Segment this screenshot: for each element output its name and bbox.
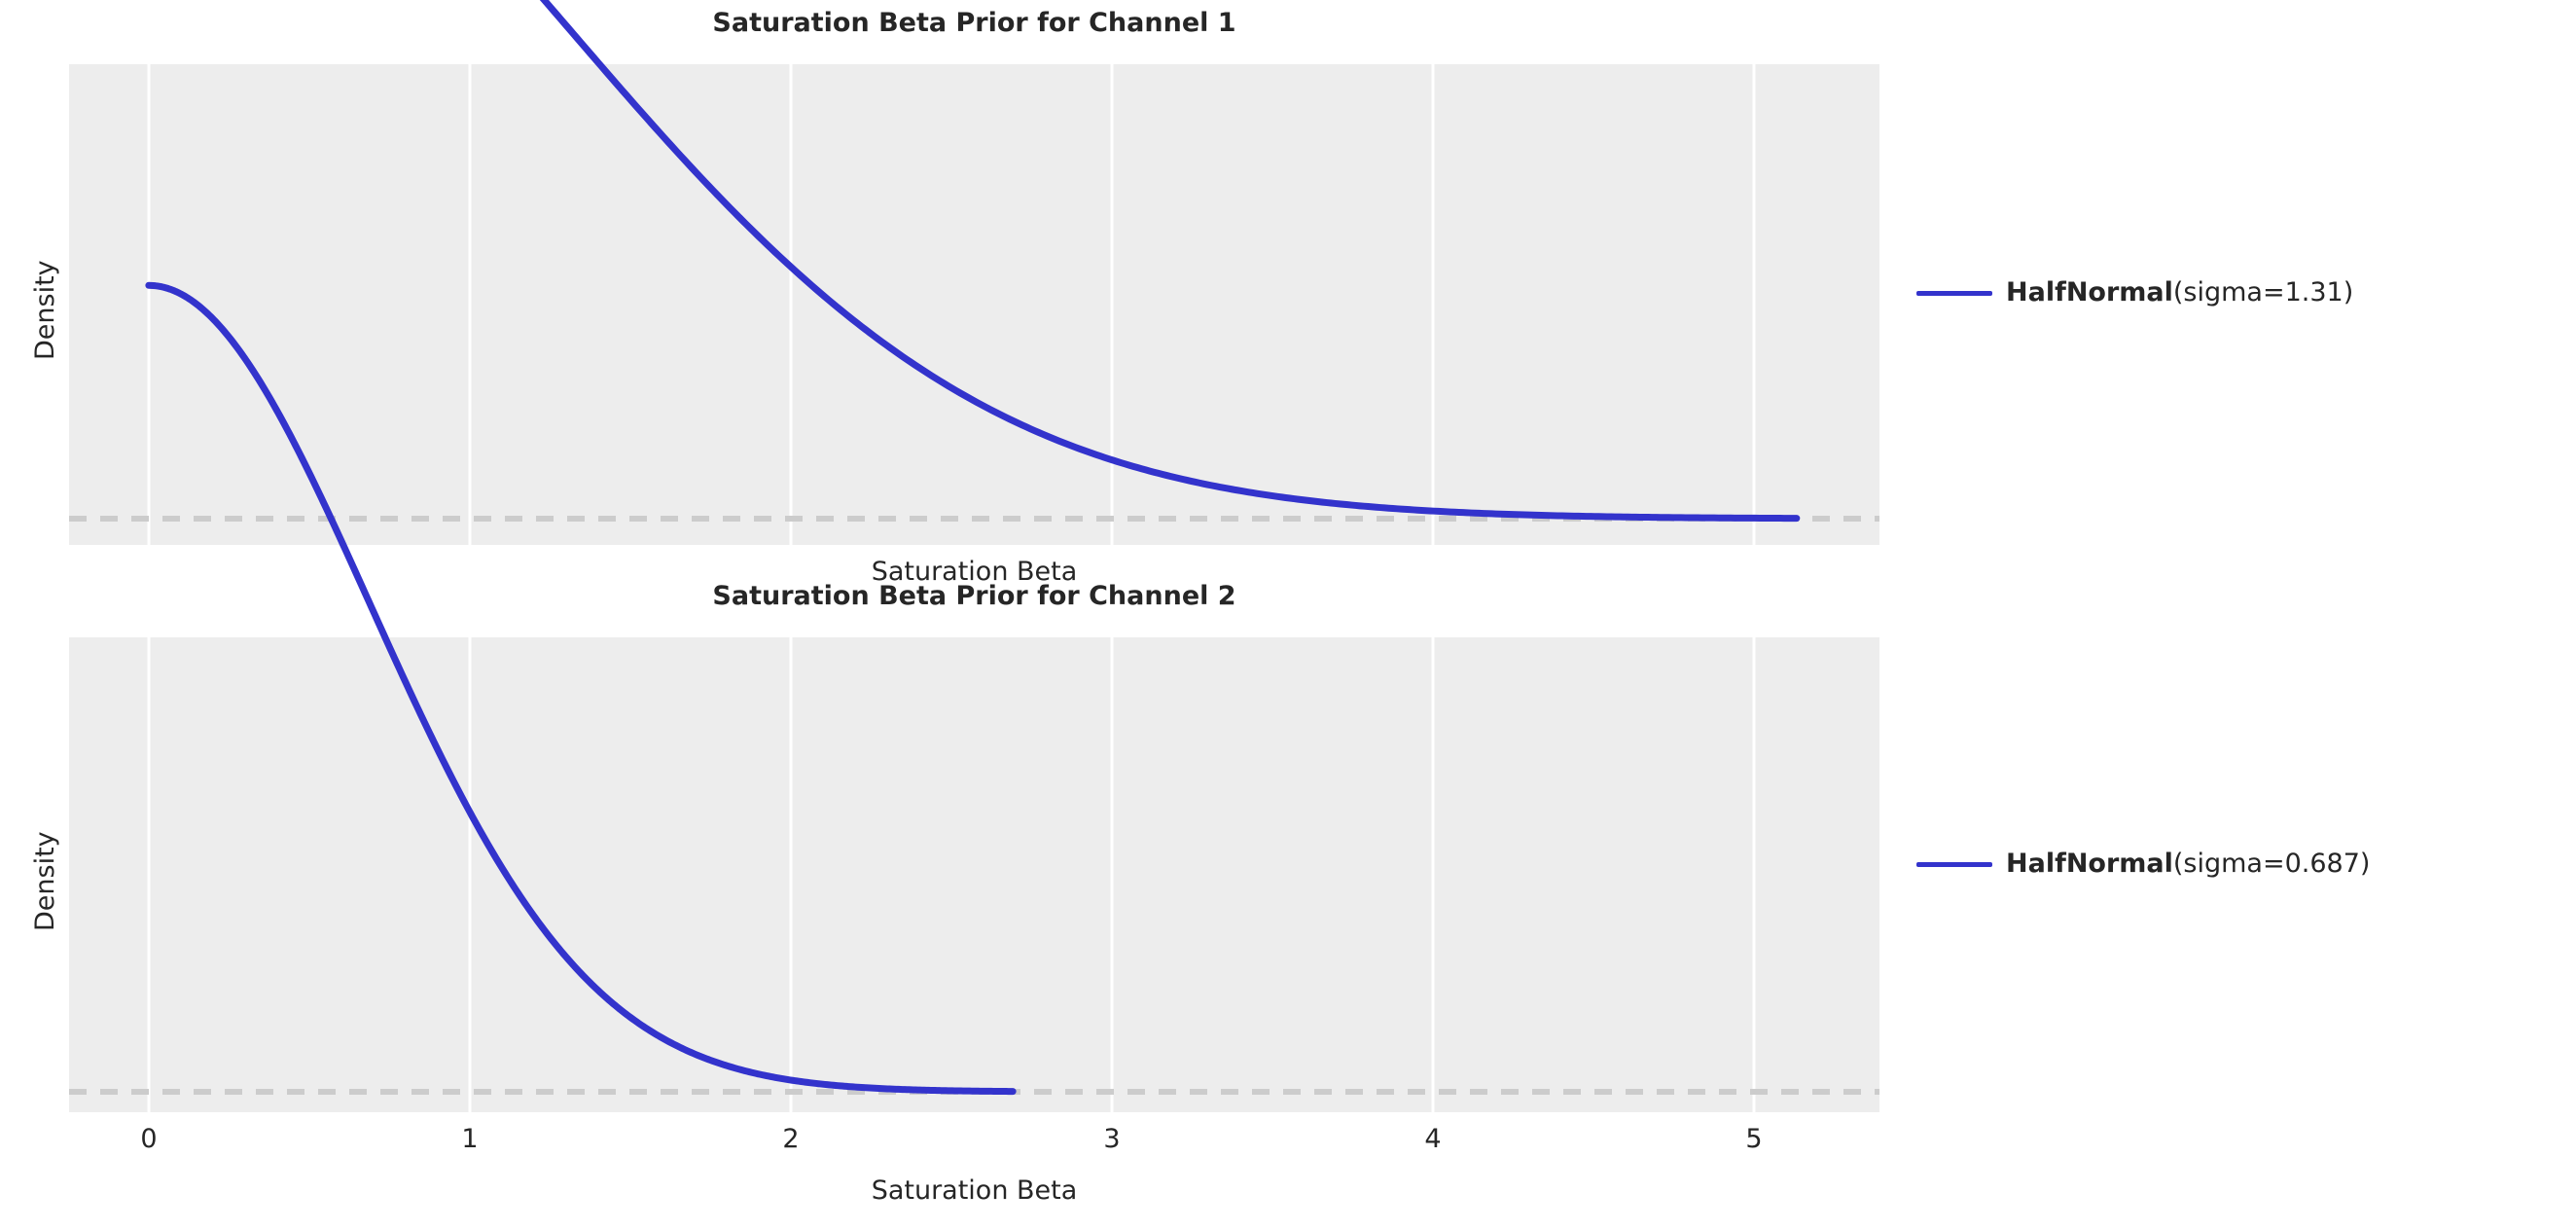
panel-2-axes bbox=[69, 637, 1879, 1112]
panel-1-legend-dist-name: HalfNormal bbox=[2006, 277, 2173, 307]
panel-1-legend-line-icon bbox=[1916, 291, 1992, 296]
panel-2-legend: HalfNormal(sigma=0.687) bbox=[1916, 849, 2370, 880]
panel-1-plot-svg bbox=[69, 64, 1879, 545]
panel-2-xlabel: Saturation Beta bbox=[69, 1175, 1879, 1207]
panel-2-title: Saturation Beta Prior for Channel 2 bbox=[69, 581, 1879, 612]
panel-1-axes bbox=[69, 64, 1879, 545]
panel-2-ylabel: Density bbox=[31, 831, 60, 931]
panel-1-title: Saturation Beta Prior for Channel 1 bbox=[69, 8, 1879, 39]
panel-2-plot-svg bbox=[69, 637, 1879, 1112]
panel-1-curve bbox=[149, 0, 1797, 519]
panel-1-legend-label: HalfNormal(sigma=1.31) bbox=[2006, 277, 2353, 308]
xtick-label-1: 1 bbox=[431, 1124, 509, 1155]
xtick-label-3: 3 bbox=[1073, 1124, 1151, 1155]
panel-1-legend-dist-param: (sigma=1.31) bbox=[2173, 277, 2353, 307]
panel-2-legend-line-icon bbox=[1916, 862, 1992, 867]
xtick-label-5: 5 bbox=[1715, 1124, 1793, 1155]
panel-2-legend-label: HalfNormal(sigma=0.687) bbox=[2006, 849, 2370, 880]
xtick-label-4: 4 bbox=[1394, 1124, 1472, 1155]
xtick-label-0: 0 bbox=[110, 1124, 188, 1155]
panel-2-legend-dist-param: (sigma=0.687) bbox=[2173, 849, 2371, 879]
panel-2-gridlines bbox=[149, 637, 1754, 1112]
panel-2-legend-dist-name: HalfNormal bbox=[2006, 849, 2173, 879]
figure-root: Saturation Beta Prior for Channel 1 Dens… bbox=[0, 0, 2576, 1229]
panel-1-ylabel: Density bbox=[31, 260, 60, 360]
panel-1-legend: HalfNormal(sigma=1.31) bbox=[1916, 277, 2353, 308]
panel-1-gridlines bbox=[149, 64, 1754, 545]
xtick-label-2: 2 bbox=[752, 1124, 830, 1155]
